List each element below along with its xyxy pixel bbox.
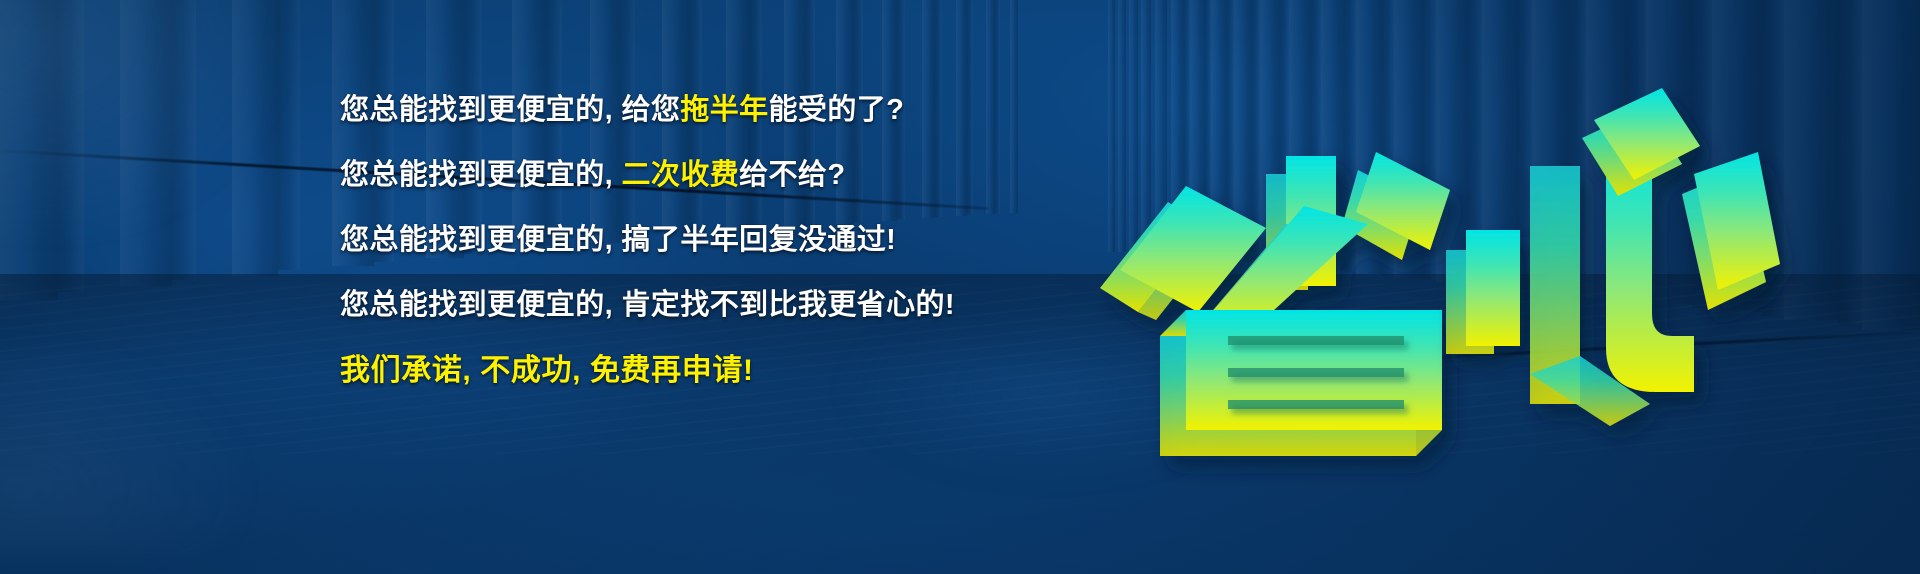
copy-promise-line: 我们承诺, 不成功, 免费再申请! [340,356,1060,386]
corner-sheen-top-left [0,0,300,250]
headline-3d-shengxin [1090,74,1780,474]
copy-line-2-highlight: 二次收费 [622,159,740,191]
xin-stroke-right-dot [1682,152,1780,310]
sheng-stroke-right-dot [1342,152,1450,260]
headline-char-xin [1446,88,1780,426]
marketing-copy-block: 您总能找到更便宜的, 给您拖半年能受的了? 您总能找到更便宜的, 二次收费给不给… [340,96,1060,386]
xin-stroke-hook [1530,148,1694,426]
copy-line-3: 您总能找到更便宜的, 搞了半年回复没通过! [340,226,1060,255]
xin-stroke-left-dot [1446,230,1520,354]
copy-line-1-part-b: 能受的了? [769,94,905,126]
copy-line-1: 您总能找到更便宜的, 给您拖半年能受的了? [340,96,1060,125]
sheng-component-mu-box [1160,310,1442,456]
copy-line-2-part-b: 给不给? [739,159,845,191]
promo-banner: 您总能找到更便宜的, 给您拖半年能受的了? 您总能找到更便宜的, 二次收费给不给… [0,0,1920,574]
copy-line-4: 您总能找到更便宜的, 肯定找不到比我更省心的! [340,291,1060,320]
xin-stroke-middle-dot [1582,88,1700,196]
headline-char-sheng [1100,152,1450,456]
copy-line-3-text: 您总能找到更便宜的, 搞了半年回复没通过! [340,224,896,256]
copy-line-1-highlight: 拖半年 [680,94,768,126]
copy-line-4-text: 您总能找到更便宜的, 肯定找不到比我更省心的! [340,289,955,321]
copy-line-1-part-a: 您总能找到更便宜的, 给您 [340,94,680,126]
copy-line-2-part-a: 您总能找到更便宜的, [340,159,622,191]
copy-line-2: 您总能找到更便宜的, 二次收费给不给? [340,161,1060,190]
corner-sheen-bottom-left [0,334,260,554]
